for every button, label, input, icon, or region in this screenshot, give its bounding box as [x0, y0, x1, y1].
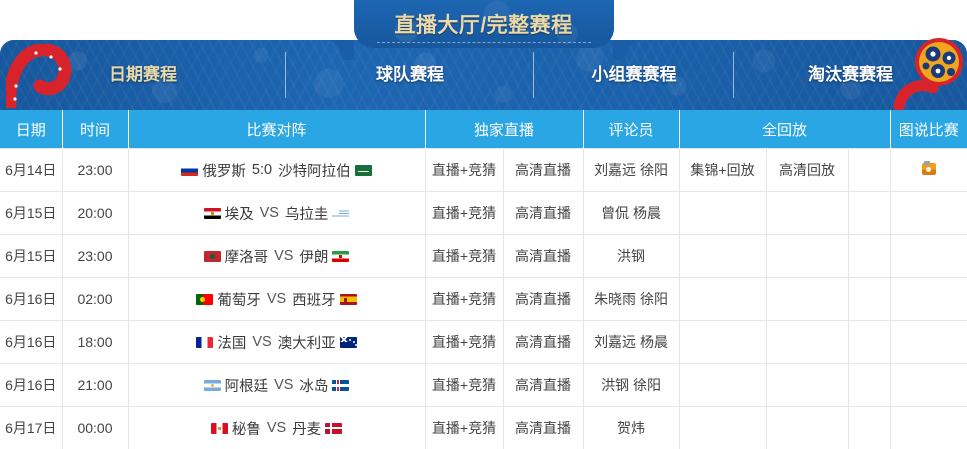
home-team-name: 俄罗斯 — [202, 160, 246, 181]
column-header-exclusive-live: 独家直播 — [425, 110, 583, 149]
page-title: 直播大厅/完整赛程 — [0, 9, 967, 39]
cell-live-bet[interactable]: 直播+竞猜 — [425, 149, 503, 192]
away-team-name: 伊朗 — [299, 246, 328, 267]
cell-replay-extra — [848, 192, 890, 235]
cell-replay-highlights — [679, 278, 766, 321]
cell-live-bet[interactable]: 直播+竞猜 — [425, 278, 503, 321]
home-team-name: 葡萄牙 — [217, 289, 261, 310]
cell-replay-highlights — [679, 192, 766, 235]
away-team-name: 乌拉圭 — [285, 203, 329, 224]
cell-time: 00:00 — [62, 407, 128, 449]
home-team-flag-icon — [204, 251, 221, 262]
away-team-name: 丹麦 — [292, 418, 321, 439]
tab-team-schedule-label: 球队赛程 — [376, 65, 444, 84]
home-team-flag-icon — [204, 380, 221, 391]
home-team-name: 秘鲁 — [232, 418, 261, 439]
table-header: 日期 时间 比赛对阵 独家直播 评论员 全回放 图说比赛 — [0, 110, 967, 149]
table-row: 6月16日18:00法国VS澳大利亚直播+竞猜高清直播刘嘉远 杨晨 — [0, 321, 967, 364]
cell-commentator: 贺炜 — [583, 407, 679, 449]
cell-replay-extra — [848, 407, 890, 449]
away-team-name: 冰岛 — [299, 375, 328, 396]
table-row: 6月15日23:00摩洛哥VS伊朗直播+竞猜高清直播洪钢 — [0, 235, 967, 278]
cell-replay-extra — [848, 278, 890, 321]
cell-match[interactable]: 秘鲁VS丹麦 — [128, 407, 425, 449]
home-team-name: 阿根廷 — [225, 375, 269, 396]
tab-team-schedule[interactable]: 球队赛程 — [286, 40, 534, 110]
cell-commentator: 曾侃 杨晨 — [583, 192, 679, 235]
cell-time: 23:00 — [62, 149, 128, 192]
table-body: 6月14日23:00俄罗斯5:0沙特阿拉伯直播+竞猜高清直播刘嘉远 徐阳集锦+回… — [0, 149, 967, 449]
away-team-name: 沙特阿拉伯 — [278, 160, 351, 181]
home-team-name: 埃及 — [225, 203, 254, 224]
cell-live-bet[interactable]: 直播+竞猜 — [425, 321, 503, 364]
cell-replay-highlights[interactable]: 集锦+回放 — [679, 149, 766, 192]
match-vs-label: VS — [250, 334, 273, 350]
cell-replay-hd — [766, 235, 848, 278]
cell-match[interactable]: 俄罗斯5:0沙特阿拉伯 — [128, 149, 425, 192]
cell-live-hd[interactable]: 高清直播 — [503, 321, 583, 364]
cell-time: 21:00 — [62, 364, 128, 407]
home-team-flag-icon — [196, 337, 213, 348]
match-score: 5:0 — [250, 162, 274, 178]
cell-time: 18:00 — [62, 321, 128, 364]
cell-replay-highlights — [679, 235, 766, 278]
cell-replay-hd — [766, 192, 848, 235]
cell-picture-report[interactable] — [890, 149, 967, 192]
cell-replay-hd — [766, 278, 848, 321]
cell-date: 6月15日 — [0, 192, 62, 235]
cell-match[interactable]: 葡萄牙VS西班牙 — [128, 278, 425, 321]
match-vs-label: VS — [265, 420, 288, 436]
match-vs-label: VS — [272, 377, 295, 393]
away-team-name: 西班牙 — [292, 289, 336, 310]
cell-picture-report — [890, 321, 967, 364]
away-team-flag-icon — [332, 251, 349, 262]
column-header-date: 日期 — [0, 110, 62, 149]
cell-commentator: 刘嘉远 徐阳 — [583, 149, 679, 192]
away-team-flag-icon — [325, 423, 342, 434]
match-vs-label: VS — [265, 291, 288, 307]
away-team-flag-icon — [355, 165, 372, 176]
cell-date: 6月17日 — [0, 407, 62, 449]
cell-picture-report — [890, 407, 967, 449]
cell-replay-hd — [766, 407, 848, 449]
column-header-match: 比赛对阵 — [128, 110, 425, 149]
column-header-full-replay: 全回放 — [679, 110, 890, 149]
tab-date-schedule[interactable]: 日期赛程 — [0, 40, 286, 110]
home-team-flag-icon — [204, 208, 221, 219]
cell-replay-highlights — [679, 364, 766, 407]
cell-replay-hd — [766, 364, 848, 407]
table-row: 6月15日20:00埃及VS乌拉圭直播+竞猜高清直播曾侃 杨晨 — [0, 192, 967, 235]
column-header-picture-report: 图说比赛 — [890, 110, 967, 149]
match-vs-label: VS — [258, 205, 281, 221]
cell-commentator: 洪钢 — [583, 235, 679, 278]
match-vs-label: VS — [272, 248, 295, 264]
cell-live-hd[interactable]: 高清直播 — [503, 192, 583, 235]
page-banner: 直播大厅/完整赛程 日期赛程 — [0, 0, 967, 110]
table-row: 6月14日23:00俄罗斯5:0沙特阿拉伯直播+竞猜高清直播刘嘉远 徐阳集锦+回… — [0, 149, 967, 192]
cell-live-bet[interactable]: 直播+竞猜 — [425, 407, 503, 449]
cell-replay-extra — [848, 364, 890, 407]
away-team-flag-icon — [332, 208, 349, 219]
schedule-table: 日期 时间 比赛对阵 独家直播 评论员 全回放 图说比赛 6月14日23:00俄… — [0, 110, 967, 449]
cell-live-bet[interactable]: 直播+竞猜 — [425, 192, 503, 235]
cell-date: 6月14日 — [0, 149, 62, 192]
picture-report-icon[interactable] — [922, 163, 936, 175]
cell-time: 23:00 — [62, 235, 128, 278]
away-team-flag-icon — [332, 380, 349, 391]
tab-knockout-schedule[interactable]: 淘汰赛赛程 — [734, 40, 967, 110]
cell-replay-highlights — [679, 321, 766, 364]
table-row: 6月17日00:00秘鲁VS丹麦直播+竞猜高清直播贺炜 — [0, 407, 967, 449]
cell-time: 20:00 — [62, 192, 128, 235]
cell-replay-extra — [848, 235, 890, 278]
cell-live-hd[interactable]: 高清直播 — [503, 364, 583, 407]
cell-time: 02:00 — [62, 278, 128, 321]
cell-date: 6月15日 — [0, 235, 62, 278]
banner-nav: 日期赛程 球队赛程 小组赛赛程 淘汰赛赛程 — [0, 40, 967, 110]
cell-match[interactable]: 法国VS澳大利亚 — [128, 321, 425, 364]
cell-picture-report — [890, 364, 967, 407]
away-team-flag-icon — [340, 294, 357, 305]
title-divider — [377, 42, 591, 44]
home-team-name: 法国 — [217, 332, 246, 353]
cell-picture-report — [890, 278, 967, 321]
cell-match[interactable]: 阿根廷VS冰岛 — [128, 364, 425, 407]
cell-replay-hd[interactable]: 高清回放 — [766, 149, 848, 192]
cell-live-bet[interactable]: 直播+竞猜 — [425, 364, 503, 407]
cell-date: 6月16日 — [0, 278, 62, 321]
cell-picture-report — [890, 192, 967, 235]
tab-group-stage-schedule-label: 小组赛赛程 — [592, 65, 677, 84]
cell-live-hd[interactable]: 高清直播 — [503, 235, 583, 278]
cell-live-hd[interactable]: 高清直播 — [503, 149, 583, 192]
home-team-name: 摩洛哥 — [225, 246, 269, 267]
column-header-time: 时间 — [62, 110, 128, 149]
home-team-flag-icon — [181, 165, 198, 176]
cell-live-hd[interactable]: 高清直播 — [503, 407, 583, 449]
cell-live-hd[interactable]: 高清直播 — [503, 278, 583, 321]
tab-group-stage-schedule[interactable]: 小组赛赛程 — [534, 40, 734, 110]
schedule-page: 直播大厅/完整赛程 日期赛程 — [0, 0, 967, 435]
table-row: 6月16日21:00阿根廷VS冰岛直播+竞猜高清直播洪钢 徐阳 — [0, 364, 967, 407]
cell-date: 6月16日 — [0, 364, 62, 407]
away-team-name: 澳大利亚 — [278, 332, 336, 353]
cell-commentator: 洪钢 徐阳 — [583, 364, 679, 407]
cell-replay-hd — [766, 321, 848, 364]
home-team-flag-icon — [196, 294, 213, 305]
cell-replay-extra — [848, 149, 890, 192]
cell-picture-report — [890, 235, 967, 278]
tab-knockout-schedule-label: 淘汰赛赛程 — [808, 65, 893, 84]
cell-match[interactable]: 埃及VS乌拉圭 — [128, 192, 425, 235]
tab-date-schedule-label: 日期赛程 — [109, 65, 177, 84]
table-row: 6月16日02:00葡萄牙VS西班牙直播+竞猜高清直播朱晓雨 徐阳 — [0, 278, 967, 321]
cell-match[interactable]: 摩洛哥VS伊朗 — [128, 235, 425, 278]
home-team-flag-icon — [211, 423, 228, 434]
cell-date: 6月16日 — [0, 321, 62, 364]
column-header-commentator: 评论员 — [583, 110, 679, 149]
cell-live-bet[interactable]: 直播+竞猜 — [425, 235, 503, 278]
cell-replay-extra — [848, 321, 890, 364]
cell-replay-highlights — [679, 407, 766, 449]
cell-commentator: 刘嘉远 杨晨 — [583, 321, 679, 364]
cell-commentator: 朱晓雨 徐阳 — [583, 278, 679, 321]
away-team-flag-icon — [340, 337, 357, 348]
table-header-row: 日期 时间 比赛对阵 独家直播 评论员 全回放 图说比赛 — [0, 110, 967, 149]
